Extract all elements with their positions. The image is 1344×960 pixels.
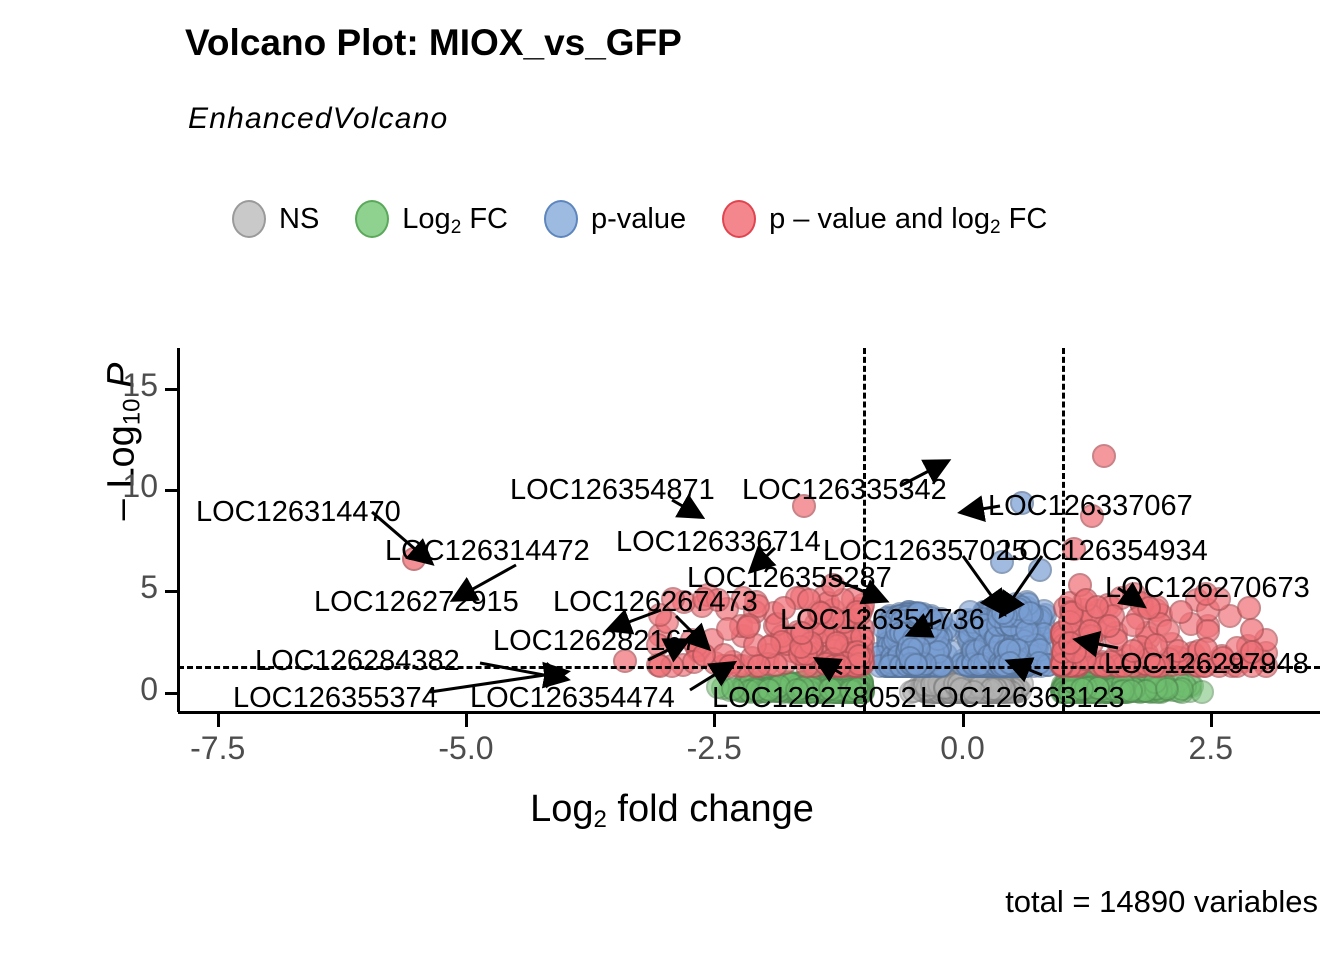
y-tick-label: 15 bbox=[88, 367, 158, 404]
gene-label-LOC126357025[interactable]: LOC126357025 bbox=[823, 535, 1028, 568]
plot-subtitle: EnhancedVolcano bbox=[188, 102, 448, 136]
data-point bbox=[998, 651, 1022, 675]
volcano-plot-figure: Volcano Plot: MIOX_vs_GFP EnhancedVolcan… bbox=[0, 0, 1344, 960]
gene-label-LOC126282167[interactable]: LOC126282167 bbox=[493, 625, 698, 658]
x-tick-label: 0.0 bbox=[903, 730, 1023, 767]
legend-item-ns[interactable]: NS bbox=[232, 200, 355, 238]
gene-label-LOC126336714[interactable]: LOC126336714 bbox=[616, 526, 821, 559]
legend-swatch-log2fc-icon bbox=[355, 200, 389, 238]
legend-swatch-ns-icon bbox=[232, 200, 266, 238]
gene-label-LOC126314470[interactable]: LOC126314470 bbox=[196, 496, 401, 529]
gene-label-LOC126337067[interactable]: LOC126337067 bbox=[988, 490, 1193, 523]
gene-label-LOC126355374[interactable]: LOC126355374 bbox=[233, 682, 438, 715]
gene-label-LOC126354736[interactable]: LOC126354736 bbox=[780, 604, 985, 637]
x-tick-mark bbox=[217, 714, 220, 727]
gene-label-LOC126297948[interactable]: LOC126297948 bbox=[1104, 648, 1309, 681]
vline-pos-threshold bbox=[1062, 348, 1065, 711]
legend-label-ns: NS bbox=[279, 203, 319, 236]
gene-label-LOC126335342[interactable]: LOC126335342 bbox=[742, 474, 947, 507]
y-tick-label: 5 bbox=[88, 569, 158, 606]
x-tick-mark bbox=[1210, 714, 1213, 727]
y-tick-label: 0 bbox=[88, 671, 158, 708]
gene-label-LOC126354871[interactable]: LOC126354871 bbox=[510, 474, 715, 507]
gene-label-LOC126284382[interactable]: LOC126284382 bbox=[255, 645, 460, 678]
gene-label-LOC126270673[interactable]: LOC126270673 bbox=[1105, 572, 1310, 605]
legend-item-log2fc[interactable]: Log2 FC bbox=[355, 200, 544, 238]
x-tick-mark bbox=[962, 714, 965, 727]
x-tick-mark bbox=[713, 714, 716, 727]
data-point bbox=[1078, 619, 1102, 643]
gene-label-LOC126278052[interactable]: LOC126278052 bbox=[712, 682, 917, 715]
x-tick-label: 2.5 bbox=[1151, 730, 1271, 767]
gene-label-LOC126272915[interactable]: LOC126272915 bbox=[314, 586, 519, 619]
x-tick-label: -2.5 bbox=[654, 730, 774, 767]
y-tick-label: 10 bbox=[88, 468, 158, 505]
y-tick-mark bbox=[165, 590, 178, 593]
legend-item-pvalue[interactable]: p-value bbox=[544, 200, 722, 238]
x-tick-label: -7.5 bbox=[158, 730, 278, 767]
total-variables-caption: total = 14890 variables bbox=[1005, 884, 1318, 920]
x-tick-mark bbox=[465, 714, 468, 727]
y-tick-mark bbox=[165, 388, 178, 391]
vline-neg-threshold bbox=[863, 348, 866, 711]
gene-label-LOC126314472[interactable]: LOC126314472 bbox=[385, 535, 590, 568]
gene-label-LOC126354934[interactable]: LOC126354934 bbox=[1003, 535, 1208, 568]
legend-label-pvalue: p-value bbox=[591, 203, 686, 236]
x-tick-label: -5.0 bbox=[406, 730, 526, 767]
legend-item-pvalue-and-log2fc[interactable]: p – value and log2 FC bbox=[722, 200, 1083, 238]
gene-label-LOC126354474[interactable]: LOC126354474 bbox=[470, 682, 675, 715]
y-axis-title: – Log10 P bbox=[101, 282, 144, 602]
gene-label-LOC126363123[interactable]: LOC126363123 bbox=[920, 682, 1125, 715]
page-title: Volcano Plot: MIOX_vs_GFP bbox=[185, 22, 682, 64]
legend-label-log2fc: Log2 FC bbox=[402, 203, 508, 236]
y-tick-mark bbox=[165, 692, 178, 695]
legend-swatch-pvalue-and-log2fc-icon bbox=[722, 200, 756, 238]
legend-swatch-pvalue-icon bbox=[544, 200, 578, 238]
legend: NS Log2 FC p-value p – value and log2 FC bbox=[232, 200, 1083, 238]
legend-label-pvalue-and-log2fc: p – value and log2 FC bbox=[769, 203, 1047, 236]
y-tick-mark bbox=[165, 489, 178, 492]
data-point bbox=[1190, 680, 1214, 704]
data-point bbox=[757, 635, 781, 659]
data-point bbox=[1092, 444, 1116, 468]
x-axis-title: Log2 fold change bbox=[0, 788, 1344, 831]
